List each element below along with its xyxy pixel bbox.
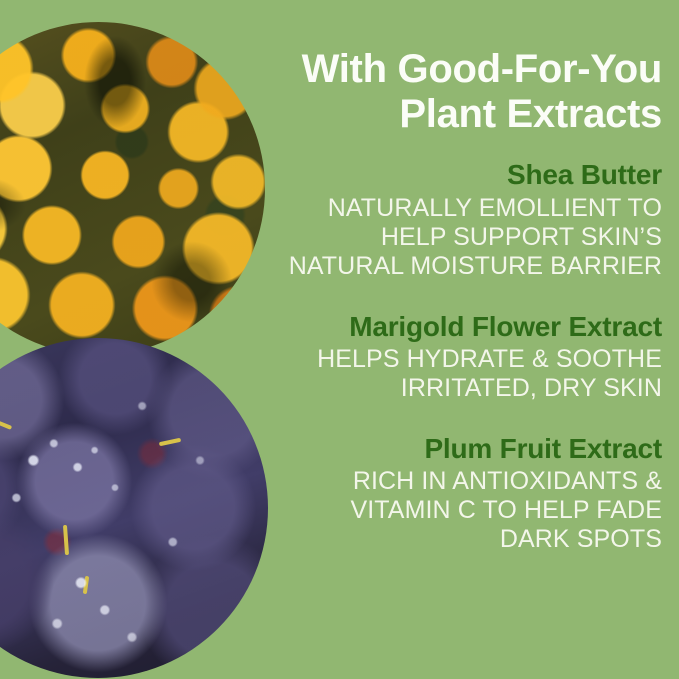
- page-title: With Good-For-You Plant Extracts: [262, 0, 662, 137]
- description-line: NATURAL MOISTURE BARRIER: [262, 252, 662, 281]
- infographic-canvas: With Good-For-You Plant Extracts Shea Bu…: [0, 0, 679, 679]
- page-title-line-2: Plant Extracts: [262, 92, 662, 137]
- description-line: NATURALLY EMOLLIENT TO: [262, 194, 662, 223]
- description-line: IRRITATED, DRY SKIN: [262, 374, 662, 403]
- ingredient-shea-butter: Shea Butter NATURALLY EMOLLIENT TO HELP …: [262, 159, 662, 280]
- plum-stem-icon: [0, 420, 12, 430]
- plum-stem-icon: [63, 525, 69, 555]
- description-line: VITAMIN C TO HELP FADE: [262, 496, 662, 525]
- plum-stem-icon: [159, 438, 181, 446]
- page-title-line-1: With Good-For-You: [262, 47, 662, 92]
- ingredient-name-marigold-flower-extract: Marigold Flower Extract: [262, 311, 662, 343]
- ingredient-plum-fruit-extract: Plum Fruit Extract RICH IN ANTIOXIDANTS …: [262, 433, 662, 554]
- plum-stem-icon: [83, 576, 89, 594]
- ingredient-description-shea-butter: NATURALLY EMOLLIENT TO HELP SUPPORT SKIN…: [262, 194, 662, 281]
- plums-photo: [0, 338, 268, 678]
- ingredient-description-marigold-flower-extract: HELPS HYDRATE & SOOTHE IRRITATED, DRY SK…: [262, 345, 662, 403]
- description-line: HELP SUPPORT SKIN’S: [262, 223, 662, 252]
- description-line: HELPS HYDRATE & SOOTHE: [262, 345, 662, 374]
- ingredient-name-shea-butter: Shea Butter: [262, 159, 662, 191]
- marigold-flowers-photo: [0, 22, 265, 355]
- ingredient-marigold-flower-extract: Marigold Flower Extract HELPS HYDRATE & …: [262, 311, 662, 403]
- ingredient-name-plum-fruit-extract: Plum Fruit Extract: [262, 433, 662, 465]
- description-line: RICH IN ANTIOXIDANTS &: [262, 467, 662, 496]
- text-column: With Good-For-You Plant Extracts Shea Bu…: [262, 0, 662, 554]
- description-line: DARK SPOTS: [262, 525, 662, 554]
- ingredient-description-plum-fruit-extract: RICH IN ANTIOXIDANTS & VITAMIN C TO HELP…: [262, 467, 662, 554]
